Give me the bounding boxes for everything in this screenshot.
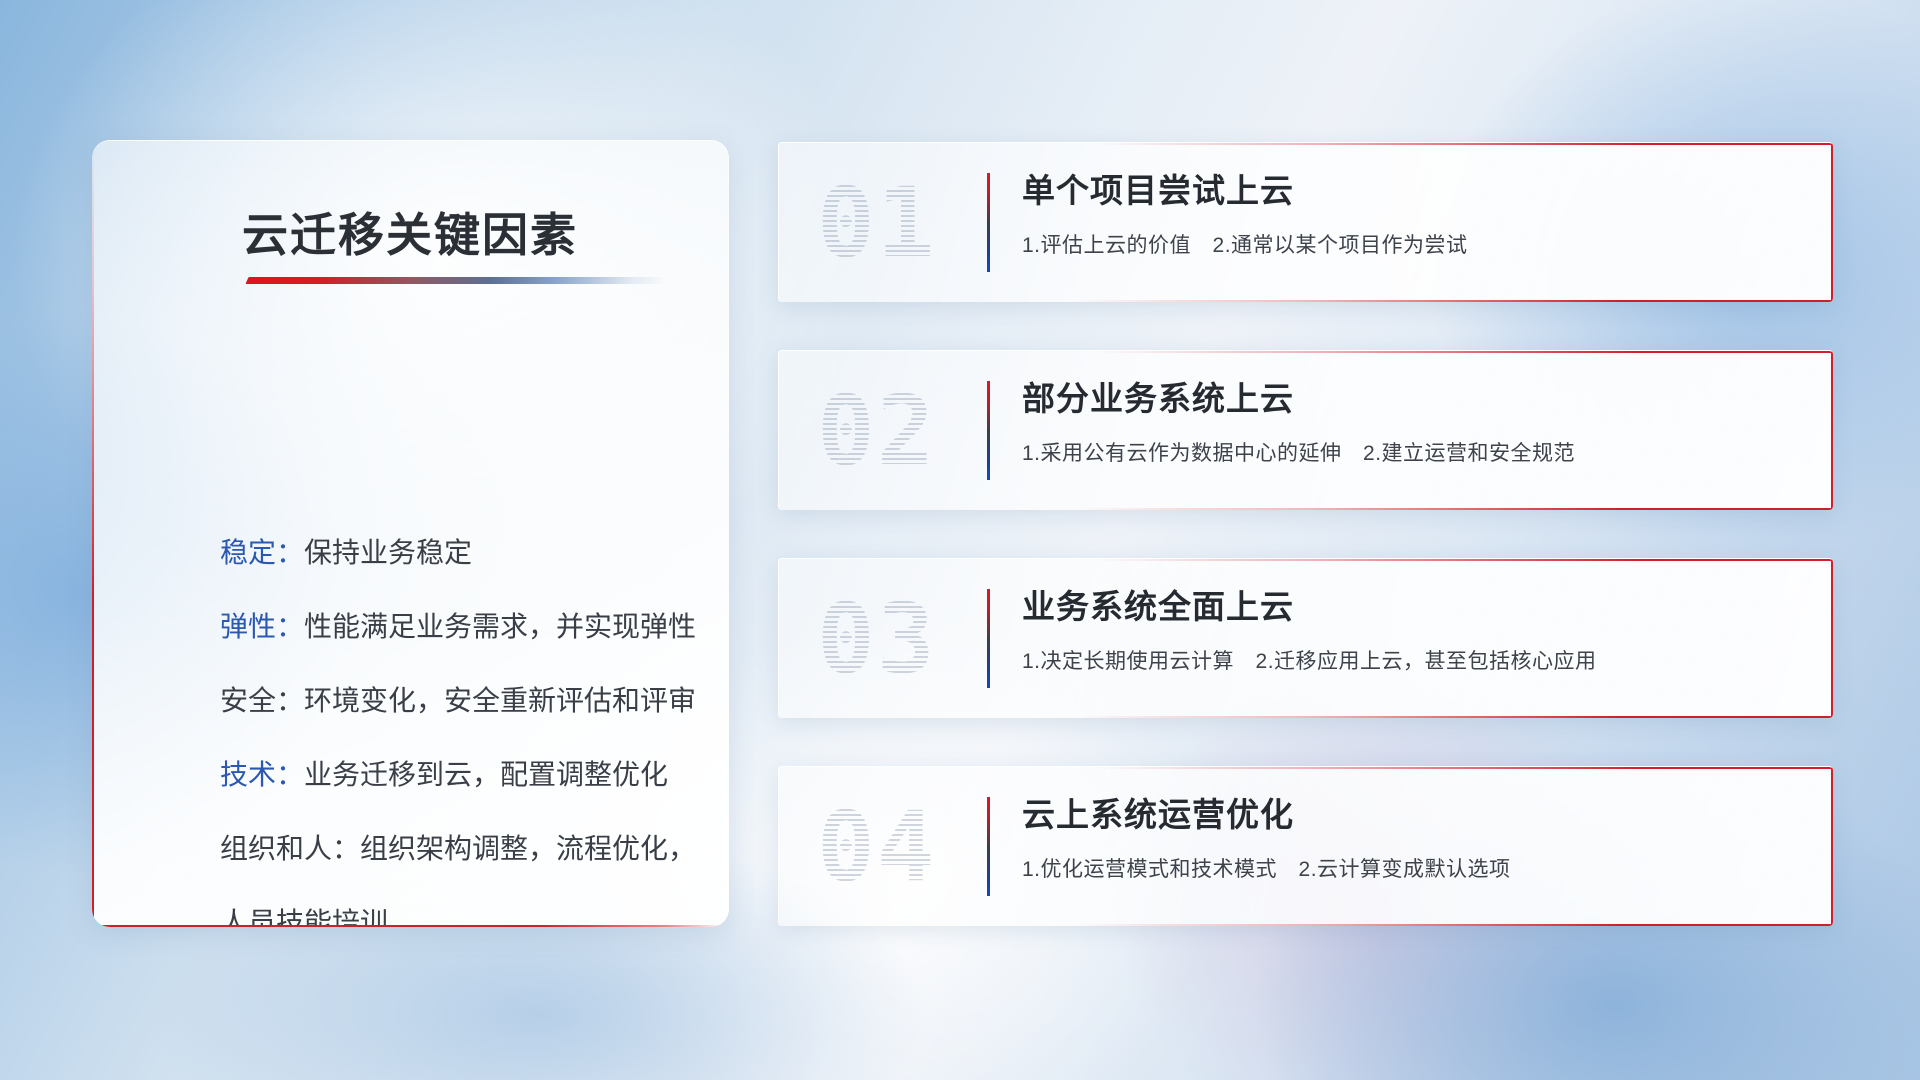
factor-row: 稳定：保持业务稳定 — [220, 516, 676, 590]
step-body: 单个项目尝试上云 1.评估上云的价值 2.通常以某个项目作为尝试 — [1022, 171, 1807, 259]
step-number-03: 03 — [817, 591, 937, 687]
step-description: 1.采用公有云作为数据中心的延伸 2.建立运营和安全规范 — [1022, 437, 1807, 467]
step-card-03[interactable]: 03 业务系统全面上云 1.决定长期使用云计算 2.迁移应用上云，甚至包括核心应… — [778, 558, 1833, 718]
factor-row: 安全：环境变化，安全重新评估和评审 — [220, 664, 676, 738]
factor-key: 技术： — [220, 759, 304, 790]
card-bottom-accent — [779, 508, 1833, 510]
step-divider — [987, 797, 990, 896]
step-body: 部分业务系统上云 1.采用公有云作为数据中心的延伸 2.建立运营和安全规范 — [1022, 379, 1807, 467]
factor-key: 弹性： — [220, 611, 304, 642]
factor-value: 业务迁移到云，配置调整优化 — [304, 759, 668, 790]
factor-key: 安全： — [220, 685, 304, 716]
step-title: 云上系统运营优化 — [1022, 795, 1807, 835]
factor-value: 组织架构调整，流程优化， — [360, 833, 696, 864]
factor-key: 稳定： — [220, 537, 304, 568]
step-body: 业务系统全面上云 1.决定长期使用云计算 2.迁移应用上云，甚至包括核心应用 — [1022, 587, 1807, 675]
factor-value: 性能满足业务需求，并实现弹性 — [304, 611, 696, 642]
step-description: 1.评估上云的价值 2.通常以某个项目作为尝试 — [1022, 229, 1807, 259]
step-description: 1.决定长期使用云计算 2.迁移应用上云，甚至包括核心应用 — [1022, 645, 1807, 675]
factor-value: 环境变化，安全重新评估和评审 — [304, 685, 696, 716]
slide-stage: 云迁移关键因素 稳定：保持业务稳定 弹性：性能满足业务需求，并实现弹性 安全：环… — [0, 0, 1920, 1080]
card-bottom-accent — [779, 924, 1833, 926]
step-number-02: 02 — [817, 383, 937, 479]
factor-row: 组织和人：组织架构调整，流程优化， — [220, 812, 676, 886]
card-bottom-accent — [779, 300, 1833, 302]
factor-continuation: 人员技能培训 — [220, 886, 676, 927]
step-description: 1.优化运营模式和技术模式 2.云计算变成默认选项 — [1022, 853, 1807, 883]
card-bottom-accent — [779, 716, 1833, 718]
step-card-02[interactable]: 02 部分业务系统上云 1.采用公有云作为数据中心的延伸 2.建立运营和安全规范 — [778, 350, 1833, 510]
step-card-04[interactable]: 04 云上系统运营优化 1.优化运营模式和技术模式 2.云计算变成默认选项 — [778, 766, 1833, 926]
panel-title: 云迁移关键因素 — [92, 199, 728, 265]
factor-row: 技术：业务迁移到云，配置调整优化 — [220, 738, 676, 812]
key-factors-panel: 云迁移关键因素 稳定：保持业务稳定 弹性：性能满足业务需求，并实现弹性 安全：环… — [92, 140, 729, 927]
factor-key: 组织和人： — [220, 833, 360, 864]
factor-value: 保持业务稳定 — [304, 537, 472, 568]
step-title: 部分业务系统上云 — [1022, 379, 1807, 419]
title-underline-gradient — [245, 277, 668, 284]
step-divider — [987, 381, 990, 480]
step-title: 单个项目尝试上云 — [1022, 171, 1807, 211]
step-body: 云上系统运营优化 1.优化运营模式和技术模式 2.云计算变成默认选项 — [1022, 795, 1807, 883]
factor-list: 稳定：保持业务稳定 弹性：性能满足业务需求，并实现弹性 安全：环境变化，安全重新… — [220, 516, 676, 927]
factor-row: 弹性：性能满足业务需求，并实现弹性 — [220, 590, 676, 664]
step-divider — [987, 589, 990, 688]
step-card-01[interactable]: 01 单个项目尝试上云 1.评估上云的价值 2.通常以某个项目作为尝试 — [778, 142, 1833, 302]
step-divider — [987, 173, 990, 272]
step-title: 业务系统全面上云 — [1022, 587, 1807, 627]
step-number-01: 01 — [817, 175, 937, 271]
step-number-04: 04 — [817, 799, 937, 895]
